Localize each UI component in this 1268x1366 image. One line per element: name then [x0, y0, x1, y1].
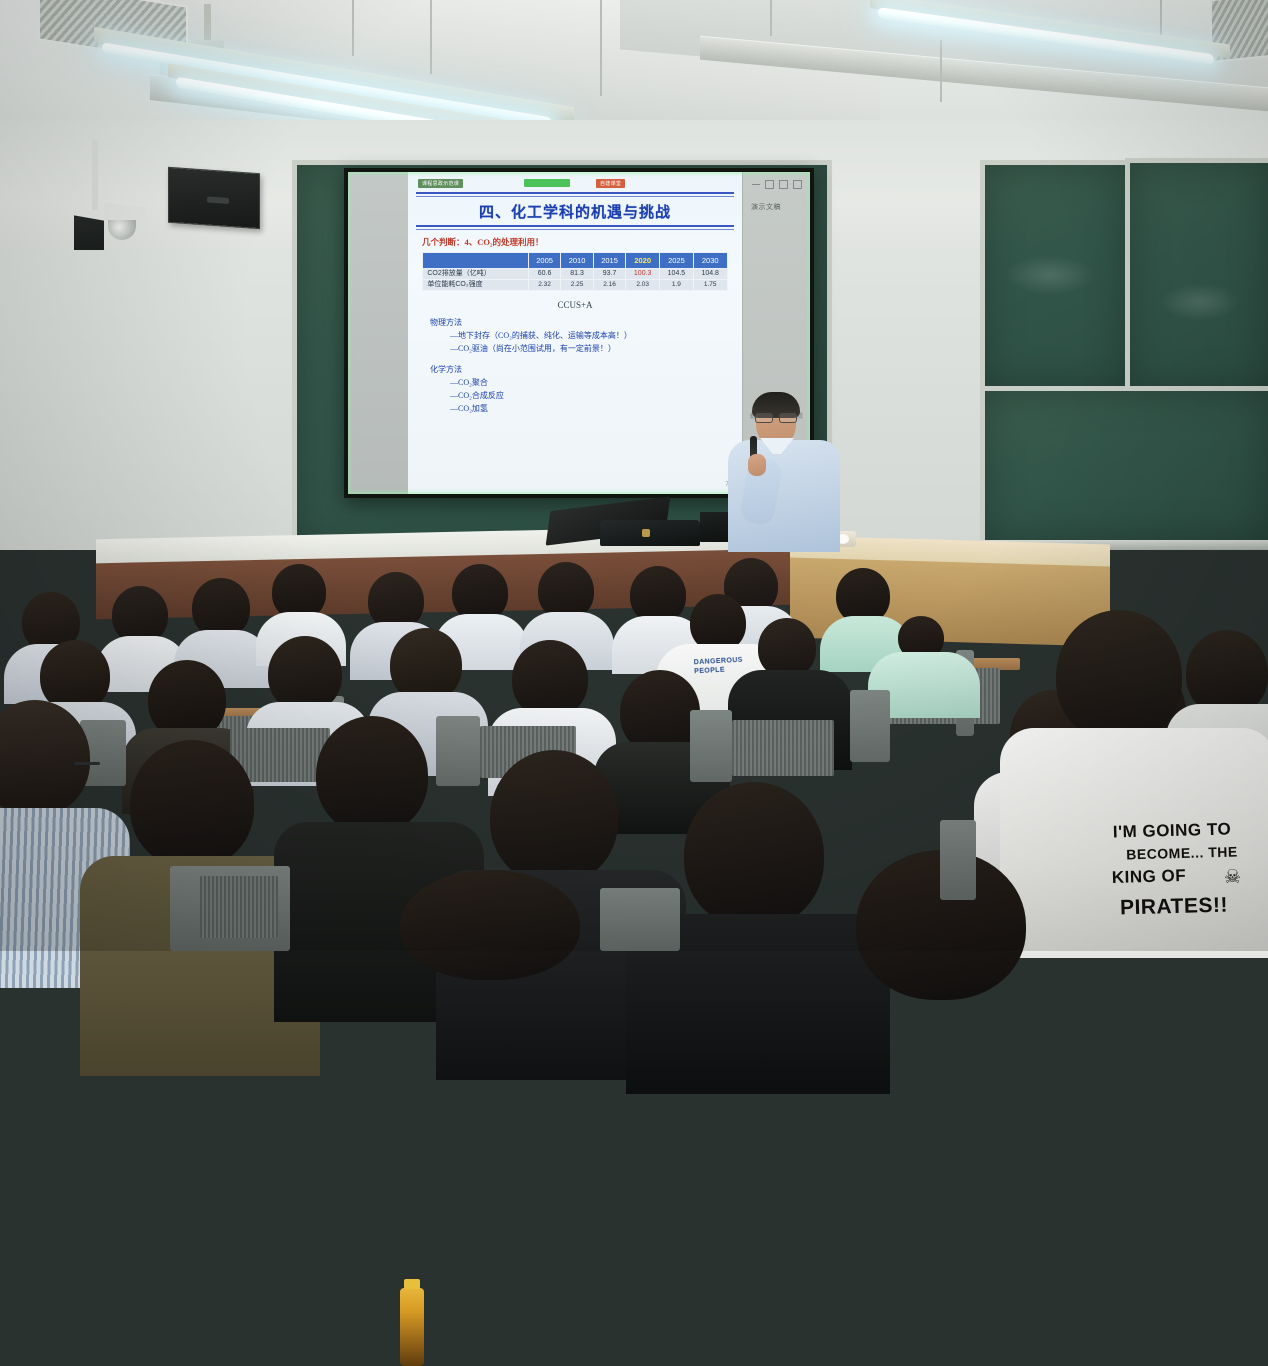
- cell-emissions-2030: 104.8: [693, 269, 727, 280]
- wall-conduit: [92, 140, 98, 210]
- table-col-2030: 2030: [693, 253, 727, 269]
- lecture-hall-scene: 课程思政示范课 自建课堂 四、化工学科的机遇与挑战 几个判断：4、CO₂的处理利…: [0, 0, 1268, 951]
- seat-back: [732, 720, 834, 776]
- close-icon[interactable]: [793, 180, 802, 189]
- light-hanger: [600, 0, 602, 96]
- eyeglasses-icon: [74, 762, 100, 765]
- title-rule-bottom: [416, 225, 734, 227]
- table-col-2010: 2010: [561, 253, 593, 269]
- slide-tag-middle: [524, 179, 570, 187]
- seat: [940, 820, 976, 900]
- table-header-row: 2005 2010 2015 2020 2025 2030: [423, 253, 727, 269]
- tshirt-graphic: I'M GOING TO BECOME... THE KING OF ☠ PIR…: [1078, 816, 1268, 966]
- bullet-physical-2: —CO₂驱油（尚在小范围试用，有一定前景！）: [450, 343, 734, 354]
- bullet-physical-1: —地下封存（CO₂的捕获、纯化、运输等成本高！）: [450, 330, 734, 341]
- tshirt-line-4: PIRATES!!: [1084, 894, 1265, 921]
- cell-intensity-2010: 2.25: [561, 280, 593, 291]
- table-row: CO2排放量（亿吨） 60.6 81.3 93.7 100.3 104.5 10…: [423, 269, 727, 280]
- table-col-2025: 2025: [660, 253, 694, 269]
- table-col-2015: 2015: [593, 253, 625, 269]
- cell-intensity-2030: 1.75: [693, 280, 727, 291]
- section-heading-chemical: 化学方法: [430, 364, 734, 375]
- seat: [850, 690, 890, 762]
- bullet-chemical-1: —CO₂聚合: [450, 377, 734, 388]
- skull-icon: ☠: [1224, 868, 1246, 888]
- title-rules-lower: [416, 225, 734, 230]
- restore-icon[interactable]: [765, 180, 774, 189]
- table-col-2020: 2020: [626, 253, 660, 269]
- ccus-label: CCUS+A: [416, 300, 734, 310]
- window-controls[interactable]: [752, 180, 802, 189]
- cell-intensity-2020: 2.03: [626, 280, 660, 291]
- bullet-chemical-3: —CO₂加氢: [450, 403, 734, 414]
- fan-rod: [204, 4, 211, 44]
- cell-emissions-2010: 81.3: [561, 269, 593, 280]
- shirt-text: DANGEROUS PEOPLE: [694, 657, 744, 677]
- presenter-view-left-pane: [348, 172, 408, 494]
- title-rule-thin: [416, 196, 734, 197]
- slide-subhead: 几个判断：4、CO₂的处理利用！: [422, 236, 734, 248]
- bullet-chemical-2: —CO₂合成反应: [450, 390, 734, 401]
- chalkboard-right: [1125, 158, 1268, 394]
- slide-content: 课程思政示范课 自建课堂 四、化工学科的机遇与挑战 几个判断：4、CO₂的处理利…: [408, 172, 742, 494]
- cell-intensity-2025: 1.9: [660, 280, 694, 291]
- seat: [690, 710, 732, 782]
- chalkboard-middle-right: [980, 160, 1130, 392]
- cell-intensity-2015: 2.16: [593, 280, 625, 291]
- cell-emissions-2005: 60.6: [528, 269, 560, 280]
- cell-emissions-2020: 100.3: [626, 269, 660, 280]
- light-hanger: [430, 0, 432, 74]
- presenter-hand: [748, 454, 766, 476]
- juice-bottle: [400, 1288, 424, 1366]
- section-heading-physical: 物理方法: [430, 317, 734, 328]
- cell-emissions-2015: 93.7: [593, 269, 625, 280]
- title-rule-thin-bottom: [416, 229, 734, 230]
- wall-speaker-icon: [168, 167, 260, 229]
- audience-area: DANGEROUS PEOPLE: [0, 520, 1268, 951]
- table-col-2005: 2005: [528, 253, 560, 269]
- minimize-icon[interactable]: [752, 184, 760, 185]
- seat: [600, 888, 680, 951]
- eyeglasses-icon: [755, 413, 797, 421]
- co2-data-table: 2005 2010 2015 2020 2025 2030 CO2排放量（亿吨）…: [422, 252, 727, 291]
- row-label-emissions: CO2排放量（亿吨）: [423, 269, 528, 280]
- cell-intensity-2005: 2.32: [528, 280, 560, 291]
- maximize-icon[interactable]: [779, 180, 788, 189]
- panel-label: 演示文稿: [751, 202, 781, 212]
- row-label-intensity: 单位能耗CO₂强度: [423, 280, 528, 291]
- seat: [436, 716, 480, 786]
- tshirt-line-1: I'M GOING TO: [1082, 820, 1262, 843]
- light-hanger: [352, 0, 354, 56]
- tshirt-line-3: KING OF: [1074, 866, 1224, 888]
- title-rules: [416, 192, 734, 197]
- slide-tag-bar: 课程思政示范课 自建课堂: [416, 178, 734, 190]
- title-rule-top: [416, 192, 734, 194]
- tshirt-line-2: BECOME... THE: [1092, 844, 1268, 863]
- slide-tag-left: 课程思政示范课: [418, 179, 463, 188]
- table-corner-cell: [423, 253, 528, 269]
- slide-title: 四、化工学科的机遇与挑战: [416, 201, 734, 222]
- seat-back: [200, 876, 278, 938]
- light-hanger: [770, 0, 772, 36]
- slide-tag-right: 自建课堂: [596, 179, 625, 188]
- cell-emissions-2025: 104.5: [660, 269, 694, 280]
- table-row: 单位能耗CO₂强度 2.32 2.25 2.16 2.03 1.9 1.75: [423, 280, 727, 291]
